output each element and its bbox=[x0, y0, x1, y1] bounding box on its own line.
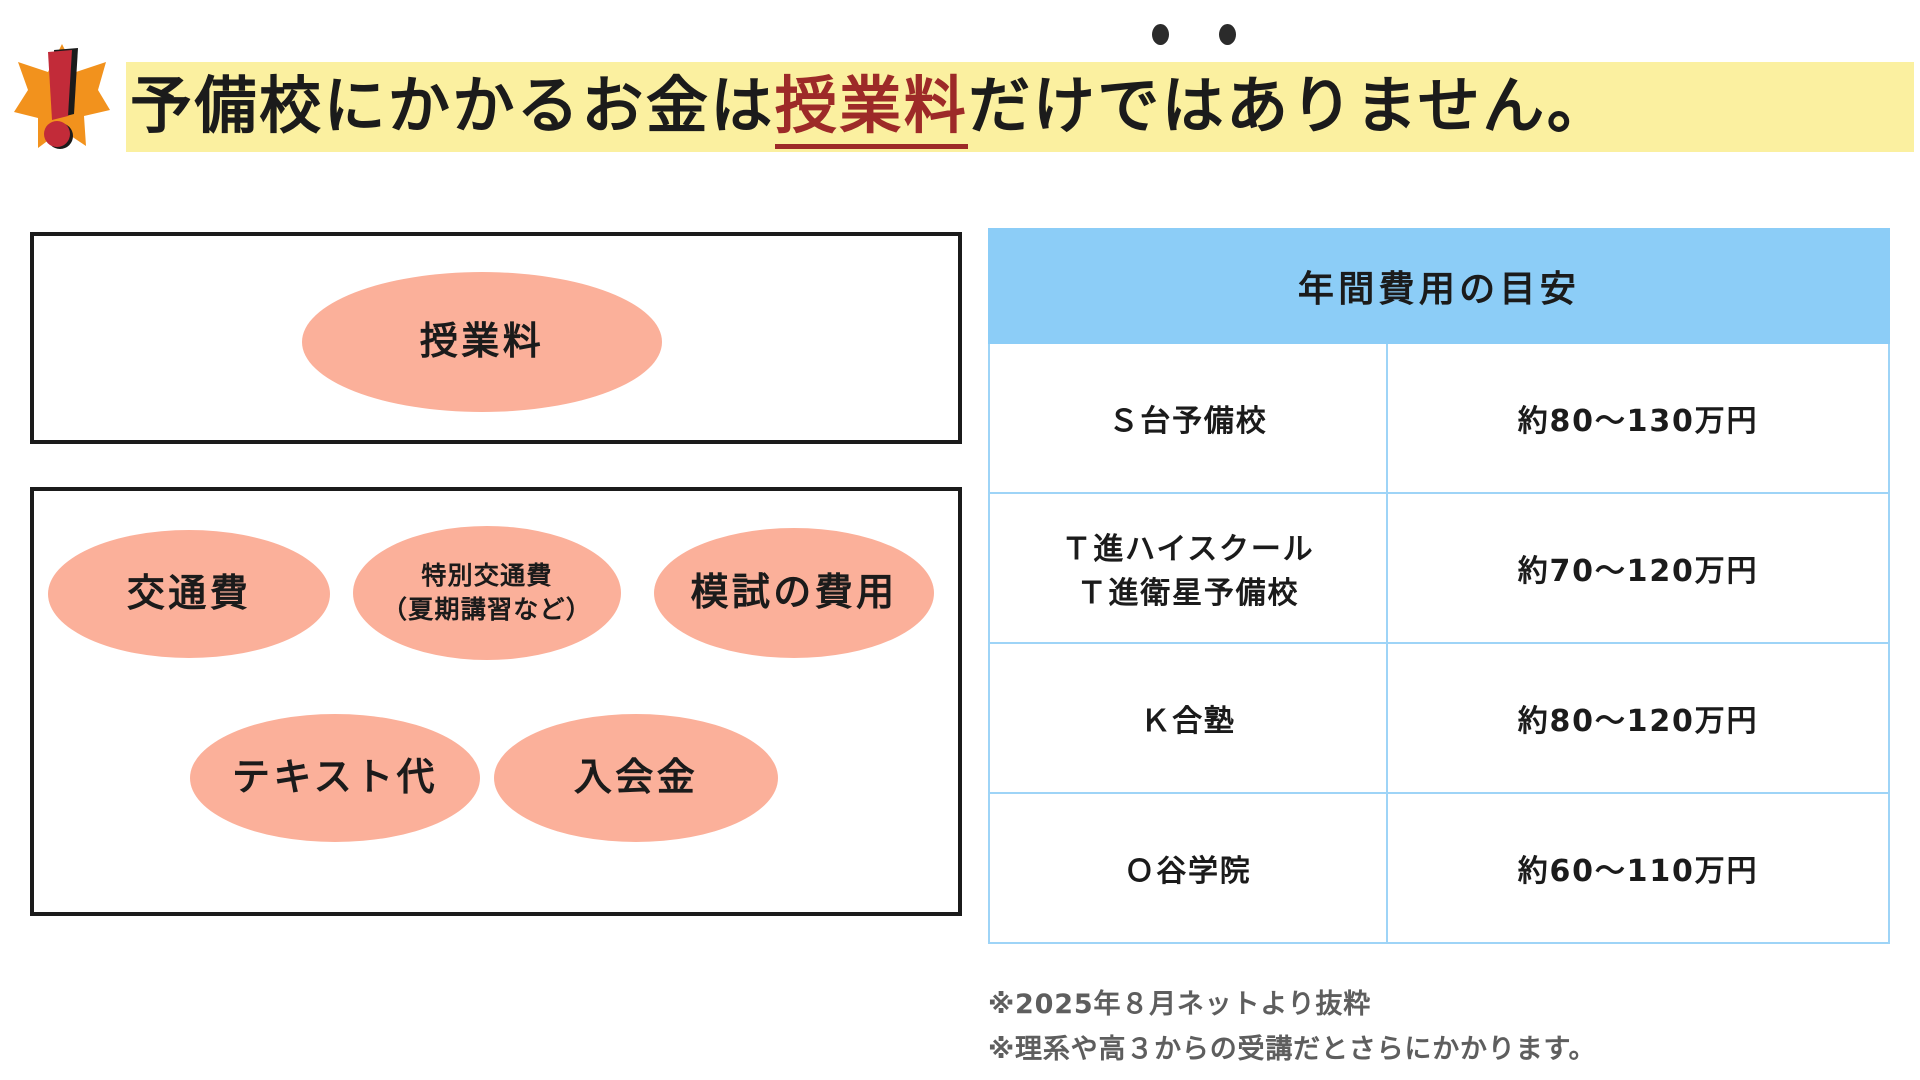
title-prefix: 予備校にかかるお金は bbox=[130, 69, 775, 142]
school-name-line2: Ｔ進衛星予備校 bbox=[996, 568, 1380, 612]
school-name-line1: Ｏ谷学院 bbox=[1124, 854, 1251, 889]
table-cell-fee: 約60〜110万円 bbox=[1387, 793, 1889, 943]
bubble-special-transport-line2: （夏期講習など） bbox=[382, 593, 592, 627]
bubble-mock-exam-fee-label: 模試の費用 bbox=[690, 567, 897, 619]
table-note-2: ※理系や高３からの受講だとさらにかかります。 bbox=[988, 1027, 1908, 1072]
bubble-textbook-fee: テキスト代 bbox=[190, 714, 480, 842]
table-cell-school: Ｔ進ハイスクール Ｔ進衛星予備校 bbox=[989, 493, 1387, 643]
annual-fee-table: 年間費用の目安 Ｓ台予備校 約80〜130万円 Ｔ進ハイスクール Ｔ進衛星予備校… bbox=[988, 228, 1890, 944]
table-row: Ｋ合塾 約80〜120万円 bbox=[989, 643, 1889, 793]
exclamation-burst-icon bbox=[14, 42, 110, 152]
emphasis-dot-2 bbox=[1219, 24, 1236, 45]
bubble-special-transport-fee-text: 特別交通費 （夏期講習など） bbox=[382, 559, 592, 627]
bubble-mock-exam-fee: 模試の費用 bbox=[654, 528, 934, 658]
title-highlight-word: 授業料 bbox=[775, 69, 968, 149]
school-name-line1: Ｔ進ハイスクール bbox=[1062, 532, 1315, 567]
bubble-entrance-fee: 入会金 bbox=[494, 714, 778, 842]
bubble-tuition-label: 授業料 bbox=[420, 316, 544, 368]
table-note-1: ※2025年８月ネットより抜粋 bbox=[988, 982, 1908, 1027]
table-row: Ｓ台予備校 約80〜130万円 bbox=[989, 343, 1889, 493]
table-cell-fee: 約80〜130万円 bbox=[1387, 343, 1889, 493]
school-name-line1: Ｓ台予備校 bbox=[1109, 404, 1268, 439]
bubble-transport-fee-label: 交通費 bbox=[127, 568, 251, 620]
bubble-textbook-fee-label: テキスト代 bbox=[232, 752, 438, 804]
table-header-title: 年間費用の目安 bbox=[989, 229, 1889, 343]
bubble-special-transport-fee: 特別交通費 （夏期講習など） bbox=[353, 526, 621, 660]
emphasis-dot-1 bbox=[1152, 24, 1169, 45]
table-cell-school: Ｋ合塾 bbox=[989, 643, 1387, 793]
table-cell-school: Ｏ谷学院 bbox=[989, 793, 1387, 943]
table-row: Ｏ谷学院 約60〜110万円 bbox=[989, 793, 1889, 943]
bubble-entrance-fee-label: 入会金 bbox=[574, 752, 698, 804]
page-title: 予備校にかかるお金は授業料だけではありません。 bbox=[130, 58, 1611, 154]
title-area: 予備校にかかるお金は授業料だけではありません。 bbox=[0, 0, 1920, 176]
bubble-special-transport-line1: 特別交通費 bbox=[421, 561, 552, 590]
bubble-transport-fee: 交通費 bbox=[48, 530, 330, 658]
table-cell-school: Ｓ台予備校 bbox=[989, 343, 1387, 493]
table-notes: ※2025年８月ネットより抜粋 ※理系や高３からの受講だとさらにかかります。 bbox=[988, 982, 1908, 1073]
table-cell-fee: 約70〜120万円 bbox=[1387, 493, 1889, 643]
table-row: Ｔ進ハイスクール Ｔ進衛星予備校 約70〜120万円 bbox=[989, 493, 1889, 643]
table-cell-fee: 約80〜120万円 bbox=[1387, 643, 1889, 793]
bubble-tuition: 授業料 bbox=[302, 272, 662, 412]
title-suffix: だけではありません。 bbox=[968, 69, 1611, 142]
school-name-line1: Ｋ合塾 bbox=[1140, 704, 1235, 739]
table-header-row: 年間費用の目安 bbox=[989, 229, 1889, 343]
